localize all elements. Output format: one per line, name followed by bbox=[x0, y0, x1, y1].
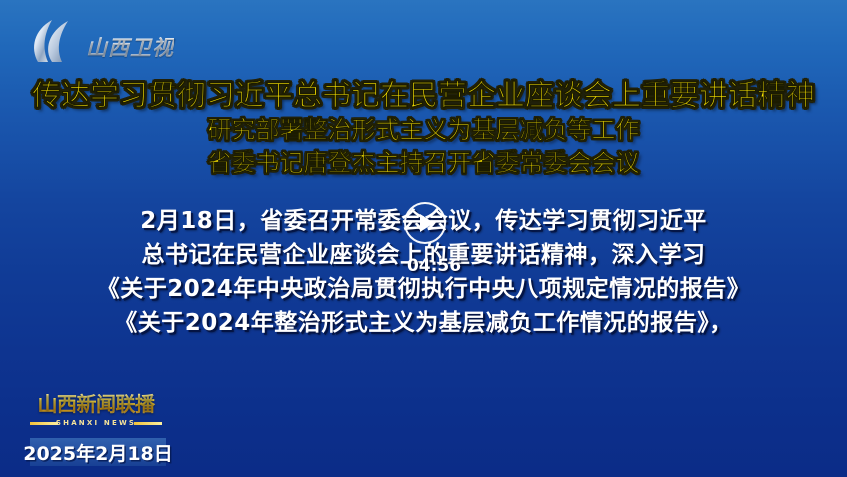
program-date-panel: 2025年2月18日 bbox=[30, 438, 166, 466]
channel-logo: 山西卫视 bbox=[28, 18, 188, 66]
program-badge: 山西新闻联播 SHANXI NEWS bbox=[30, 391, 162, 429]
play-icon bbox=[420, 214, 434, 232]
program-title-label: 山西新闻联播 bbox=[30, 391, 162, 417]
program-date-label: 2025年2月18日 bbox=[23, 439, 173, 466]
program-badge-rule: SHANXI NEWS bbox=[30, 418, 162, 429]
headline-sub-1: 研究部署整治形式主义为基层减负等工作 bbox=[0, 114, 847, 147]
channel-name-label: 山西卫视 bbox=[86, 32, 174, 62]
video-duration-label: 04:56 bbox=[404, 256, 464, 276]
headline-main: 传达学习贯彻习近平总书记在民营企业座谈会上重要讲话精神 bbox=[0, 76, 847, 114]
body-line-4: 《关于2024年整治形式主义为基层减负工作情况的报告》， bbox=[0, 306, 847, 340]
play-button[interactable] bbox=[404, 202, 446, 244]
headline-block: 传达学习贯彻习近平总书记在民营企业座谈会上重要讲话精神 研究部署整治形式主义为基… bbox=[0, 76, 847, 180]
shanxi-tv-flame-mark-icon bbox=[28, 18, 90, 64]
video-frame: 山西卫视 传达学习贯彻习近平总书记在民营企业座谈会上重要讲话精神 研究部署整治形… bbox=[0, 0, 847, 477]
program-title-en-label: SHANXI NEWS bbox=[30, 418, 162, 429]
body-line-3: 《关于2024年中央政治局贯彻执行中央八项规定情况的报告》 bbox=[0, 272, 847, 306]
headline-sub-2: 省委书记唐登杰主持召开省委常委会会议 bbox=[0, 147, 847, 180]
